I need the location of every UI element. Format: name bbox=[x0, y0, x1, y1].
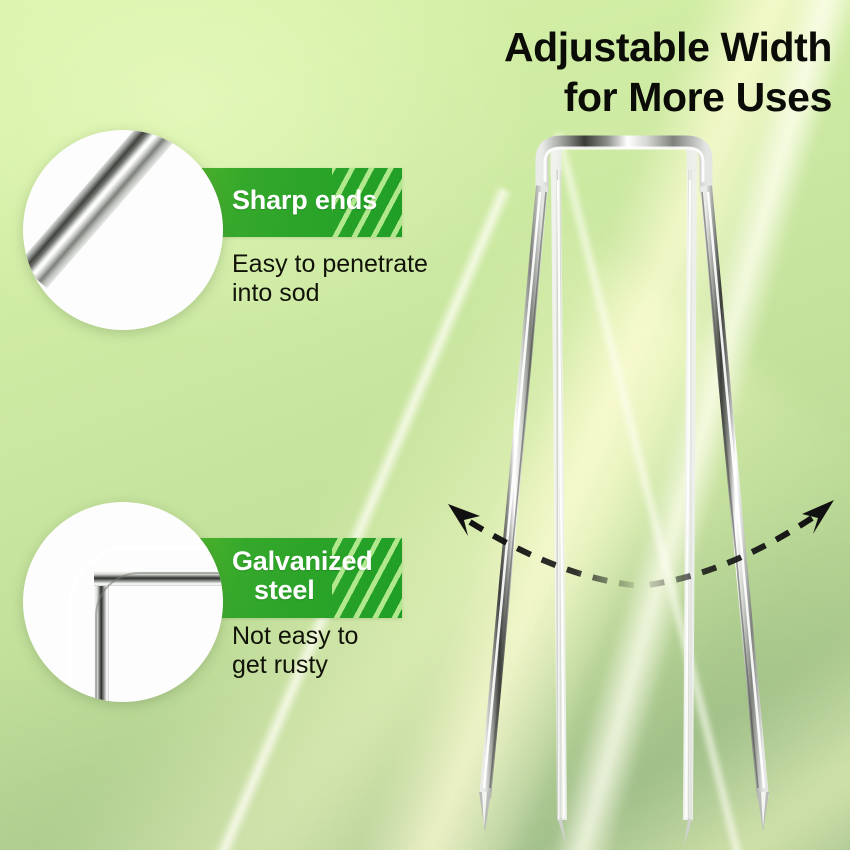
feature-description-sharp-ends: Easy to penetrate into sod bbox=[232, 250, 492, 307]
feature-banner-label-line2: steel bbox=[232, 576, 402, 605]
page-title-line2: for More Uses bbox=[402, 72, 832, 122]
steel-corner-illustration bbox=[23, 502, 223, 702]
feature-description-line2: into sod bbox=[232, 279, 492, 308]
feature-description-galvanized-steel: Not easy to get rusty bbox=[232, 622, 492, 679]
infographic-canvas: Adjustable Width for More Uses bbox=[0, 0, 850, 850]
steel-rod-illustration bbox=[23, 130, 223, 330]
feature-description-line2: get rusty bbox=[232, 651, 492, 680]
feature-photo-corner-bend bbox=[23, 502, 223, 702]
feature-description-line1: Not easy to bbox=[232, 622, 492, 651]
feature-photo-sharp-tip bbox=[23, 130, 223, 330]
page-title: Adjustable Width for More Uses bbox=[402, 22, 832, 122]
feature-banner-label-line1: Galvanized bbox=[232, 546, 373, 576]
arrow-head-right bbox=[802, 500, 834, 534]
rod-shaft bbox=[23, 130, 198, 288]
corner-bend-shadow-line bbox=[95, 572, 223, 702]
feature-description-line1: Easy to penetrate bbox=[232, 250, 492, 279]
page-title-line1: Adjustable Width bbox=[402, 22, 832, 72]
